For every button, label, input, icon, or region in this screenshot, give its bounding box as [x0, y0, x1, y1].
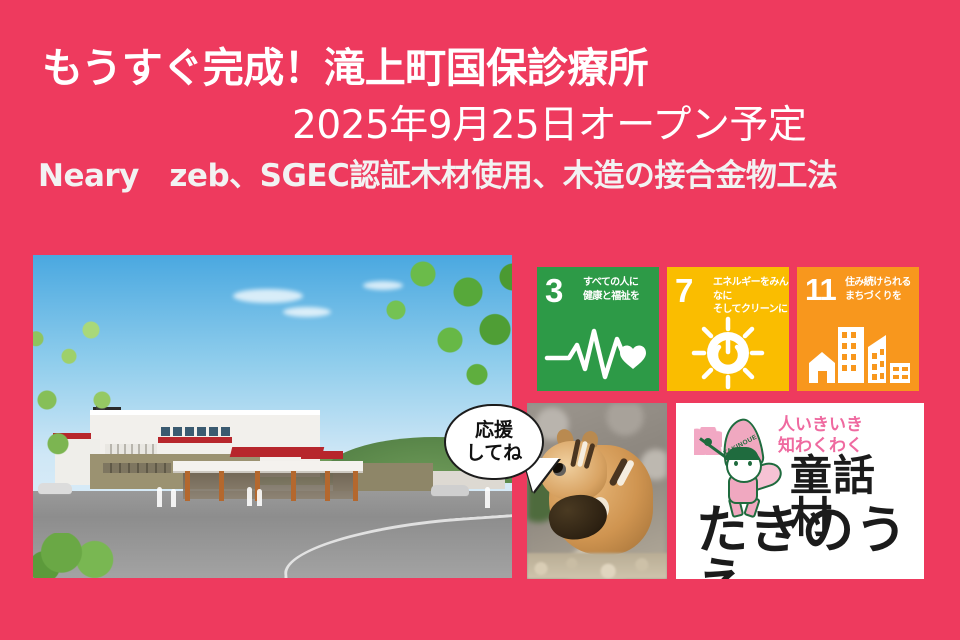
headline-line-3: Neary zeb、SGEC認証木材使用、木造の接合金物工法 [0, 161, 960, 192]
canopy-column [353, 471, 358, 501]
sdg-number: 7 [675, 274, 693, 307]
town-logo-kana: たきのうえ [696, 505, 918, 579]
town-logo-card[interactable]: TAKINOUE 人いきいき 知わくわく 童話村 たきのうえ [676, 403, 924, 579]
person-figure [257, 489, 262, 506]
person-figure [157, 487, 162, 507]
city-buildings-icon [797, 311, 919, 391]
canopy-column [219, 471, 224, 501]
gravel-ground [527, 553, 667, 579]
canopy-column [325, 471, 330, 501]
headline-block: もうすぐ完成！滝上町国保診療所 2025年9月25日オープン予定 Neary z… [0, 48, 960, 192]
town-logo-inner: TAKINOUE 人いきいき 知わくわく 童話村 たきのうえ [682, 409, 918, 573]
sdg-number: 11 [805, 274, 836, 305]
headline-line-1: もうすぐ完成！滝上町国保診療所 [0, 48, 960, 89]
clinic-render-photo [33, 255, 512, 578]
sdg-number: 3 [545, 274, 563, 307]
sdg-caption: すべての人に 健康と福祉を [583, 276, 639, 303]
cloud-icon [233, 289, 303, 303]
roof-accent-mid [158, 437, 232, 443]
tree-left [33, 295, 135, 470]
headline-line-2: 2025年9月25日オープン予定 [0, 106, 960, 145]
sdg-caption: 住み続けられる まちづくりを [845, 276, 911, 303]
entrance-glazing [183, 471, 358, 499]
tree-right [342, 255, 512, 397]
sdg-goal-3[interactable]: 3 すべての人に 健康と福祉を [537, 267, 659, 391]
sdg-goal-7[interactable]: 7 エネルギーをみんなに そしてクリーンに [667, 267, 789, 391]
mascot-eye [748, 461, 752, 466]
heartbeat-heart-icon [537, 311, 659, 391]
speech-bubble-text: 応援 してね [466, 419, 522, 465]
mascot-hair [725, 447, 759, 460]
entrance-canopy [173, 461, 363, 471]
sdg-goal-11[interactable]: 11 住み続けられる まちづくりを [797, 267, 919, 391]
car [431, 485, 469, 496]
poster-root: もうすぐ完成！滝上町国保診療所 2025年9月25日オープン予定 Neary z… [0, 0, 960, 640]
person-figure [485, 487, 490, 508]
bush [33, 533, 128, 578]
entrance-roof-red-2 [301, 451, 343, 459]
window-band-upper [161, 427, 231, 436]
sdg-icon-band: 3 すべての人に 健康と福祉を 7 エネルギーをみんなに そしてクリーンに [537, 267, 919, 391]
canopy-column [185, 471, 190, 501]
canopy-column [291, 471, 296, 501]
person-figure [247, 487, 252, 506]
mascot-eye [734, 461, 738, 466]
speech-bubble: 応援 してね [444, 404, 544, 480]
car [38, 483, 72, 494]
cloud-icon [283, 307, 331, 317]
sun-power-icon [667, 311, 789, 391]
takinoue-mascot-icon: TAKINOUE [692, 417, 782, 509]
person-figure [171, 489, 176, 507]
